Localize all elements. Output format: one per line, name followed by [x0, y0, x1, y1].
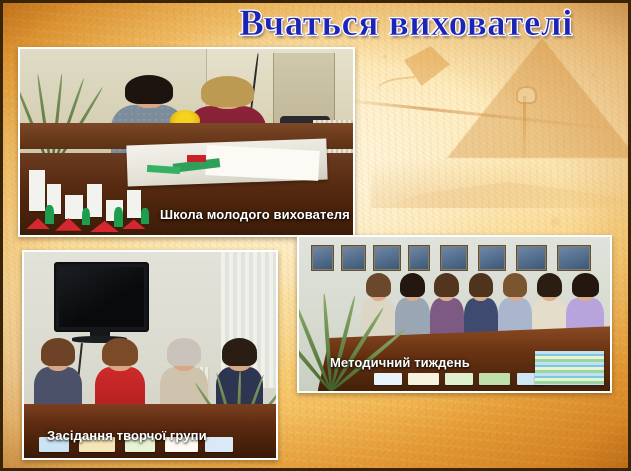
photo-caption-creative-group: Засідання творчої групи	[47, 428, 207, 443]
presentation-slide: Вчаться вихователі	[0, 0, 631, 471]
photo-caption-methodical-week: Методичний тиждень	[330, 355, 470, 370]
book	[479, 373, 510, 385]
page-title: Вчаться вихователі	[186, 2, 626, 45]
paper-sheet	[206, 145, 321, 181]
red-marker	[187, 155, 207, 162]
wall-picture-frames	[311, 245, 603, 270]
tv-screen	[59, 267, 144, 327]
architectural-model	[23, 164, 156, 235]
book	[205, 437, 233, 451]
book	[408, 373, 439, 385]
book	[445, 373, 473, 385]
book	[374, 373, 402, 385]
photo-caption-school: Школа молодого вихователя	[160, 207, 350, 222]
television	[54, 262, 149, 332]
stack-of-books	[535, 351, 603, 385]
potted-plant	[299, 271, 358, 391]
